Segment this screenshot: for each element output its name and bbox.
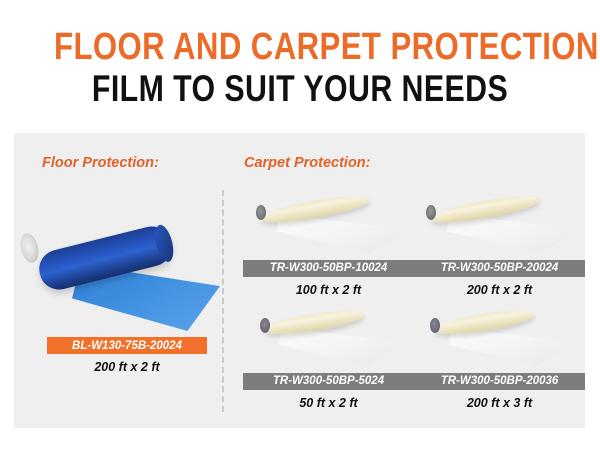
headline-line-1: FLOOR AND CARPET PROTECTION xyxy=(54,28,546,68)
carpet-product-sku-4: TR-W300-50BP-20036 xyxy=(414,373,585,390)
section-title-carpet-protection: Carpet Protection: xyxy=(244,155,371,171)
carpet-product-dimensions-1: 100 ft x 2 ft xyxy=(243,283,414,297)
carpet-product-image-2 xyxy=(422,195,582,253)
carpet-tube-end-2 xyxy=(426,205,436,220)
floor-product-sku-badge: BL-W130-75B-20024 xyxy=(47,337,207,354)
roll-core-icon xyxy=(18,231,42,264)
carpet-tube-end-1 xyxy=(256,205,266,220)
section-divider xyxy=(222,190,224,412)
floor-product-dimensions: 200 ft x 2 ft xyxy=(47,360,207,374)
page-headline: FLOOR AND CARPET PROTECTION FILM TO SUIT… xyxy=(0,28,600,108)
floor-product-sku: BL-W130-75B-20024 xyxy=(72,340,182,352)
section-title-floor-protection: Floor Protection: xyxy=(42,155,159,171)
carpet-product-sku-1: TR-W300-50BP-10024 xyxy=(243,260,414,277)
carpet-sku-bar-row-1: TR-W300-50BP-10024 TR-W300-50BP-20024 xyxy=(243,260,585,277)
headline-line-2: FILM TO SUIT YOUR NEEDS xyxy=(54,70,546,108)
carpet-product-sku-2: TR-W300-50BP-20024 xyxy=(414,260,585,277)
carpet-product-dimensions-3: 50 ft x 2 ft xyxy=(243,396,414,410)
floor-product-image xyxy=(24,228,219,333)
carpet-product-dimensions-4: 200 ft x 3 ft xyxy=(414,396,585,410)
carpet-product-image-3 xyxy=(258,308,418,366)
carpet-product-sku-3: TR-W300-50BP-5024 xyxy=(243,373,414,390)
carpet-sku-bar-row-2: TR-W300-50BP-5024 TR-W300-50BP-20036 xyxy=(243,373,585,390)
carpet-product-image-4 xyxy=(428,308,588,366)
carpet-product-dimensions-2: 200 ft x 2 ft xyxy=(414,283,585,297)
carpet-product-image-1 xyxy=(252,195,412,253)
carpet-tube-end-3 xyxy=(260,318,270,333)
product-comparison-panel: Floor Protection: Carpet Protection: BL-… xyxy=(14,133,585,428)
carpet-tube-end-4 xyxy=(430,318,440,333)
